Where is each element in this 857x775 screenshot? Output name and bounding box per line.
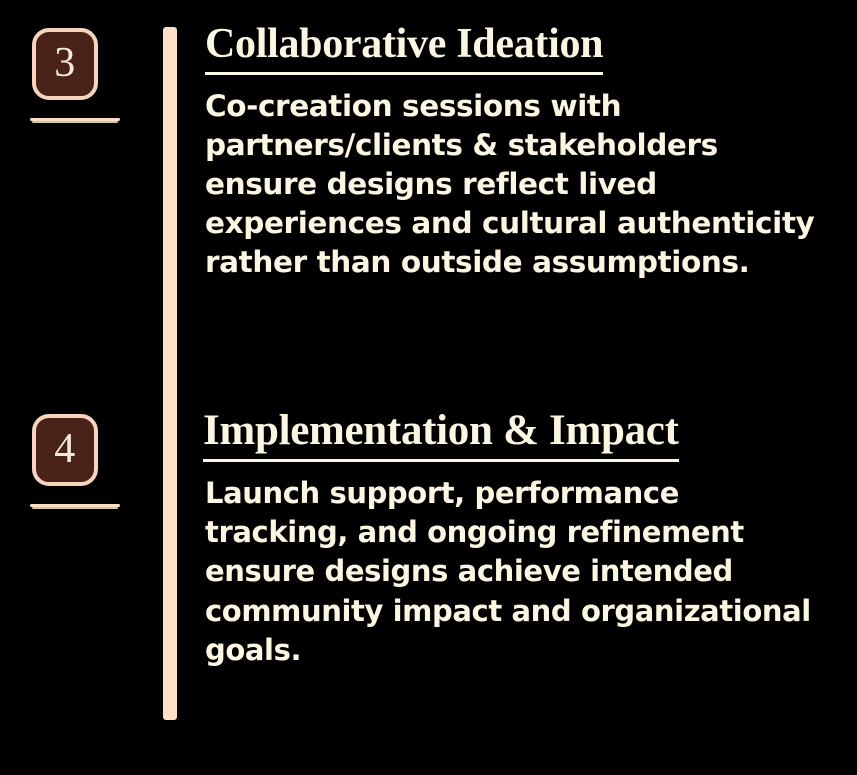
step-3-accent-rule <box>30 118 120 121</box>
step-3-number-label: 3 <box>54 42 76 86</box>
step-3-title: Collaborative Ideation <box>205 22 603 75</box>
step-4-description: Launch support, performance tracking, an… <box>205 474 825 670</box>
step-4-content: Implementation & Impact Launch support, … <box>205 408 851 670</box>
step-4-title: Implementation & Impact <box>203 408 679 462</box>
step-3-number-badge: 3 <box>32 28 98 100</box>
vertical-timeline-spine <box>163 27 177 720</box>
process-steps-slide: 3 Collaborative Ideation Co-creation ses… <box>0 0 857 775</box>
step-3-content: Collaborative Ideation Co-creation sessi… <box>205 22 851 282</box>
step-4-number-label: 4 <box>54 428 76 472</box>
step-3-description: Co-creation sessions with partners/clien… <box>205 87 835 282</box>
step-4-number-badge: 4 <box>32 414 98 486</box>
step-4-accent-rule <box>30 504 120 507</box>
